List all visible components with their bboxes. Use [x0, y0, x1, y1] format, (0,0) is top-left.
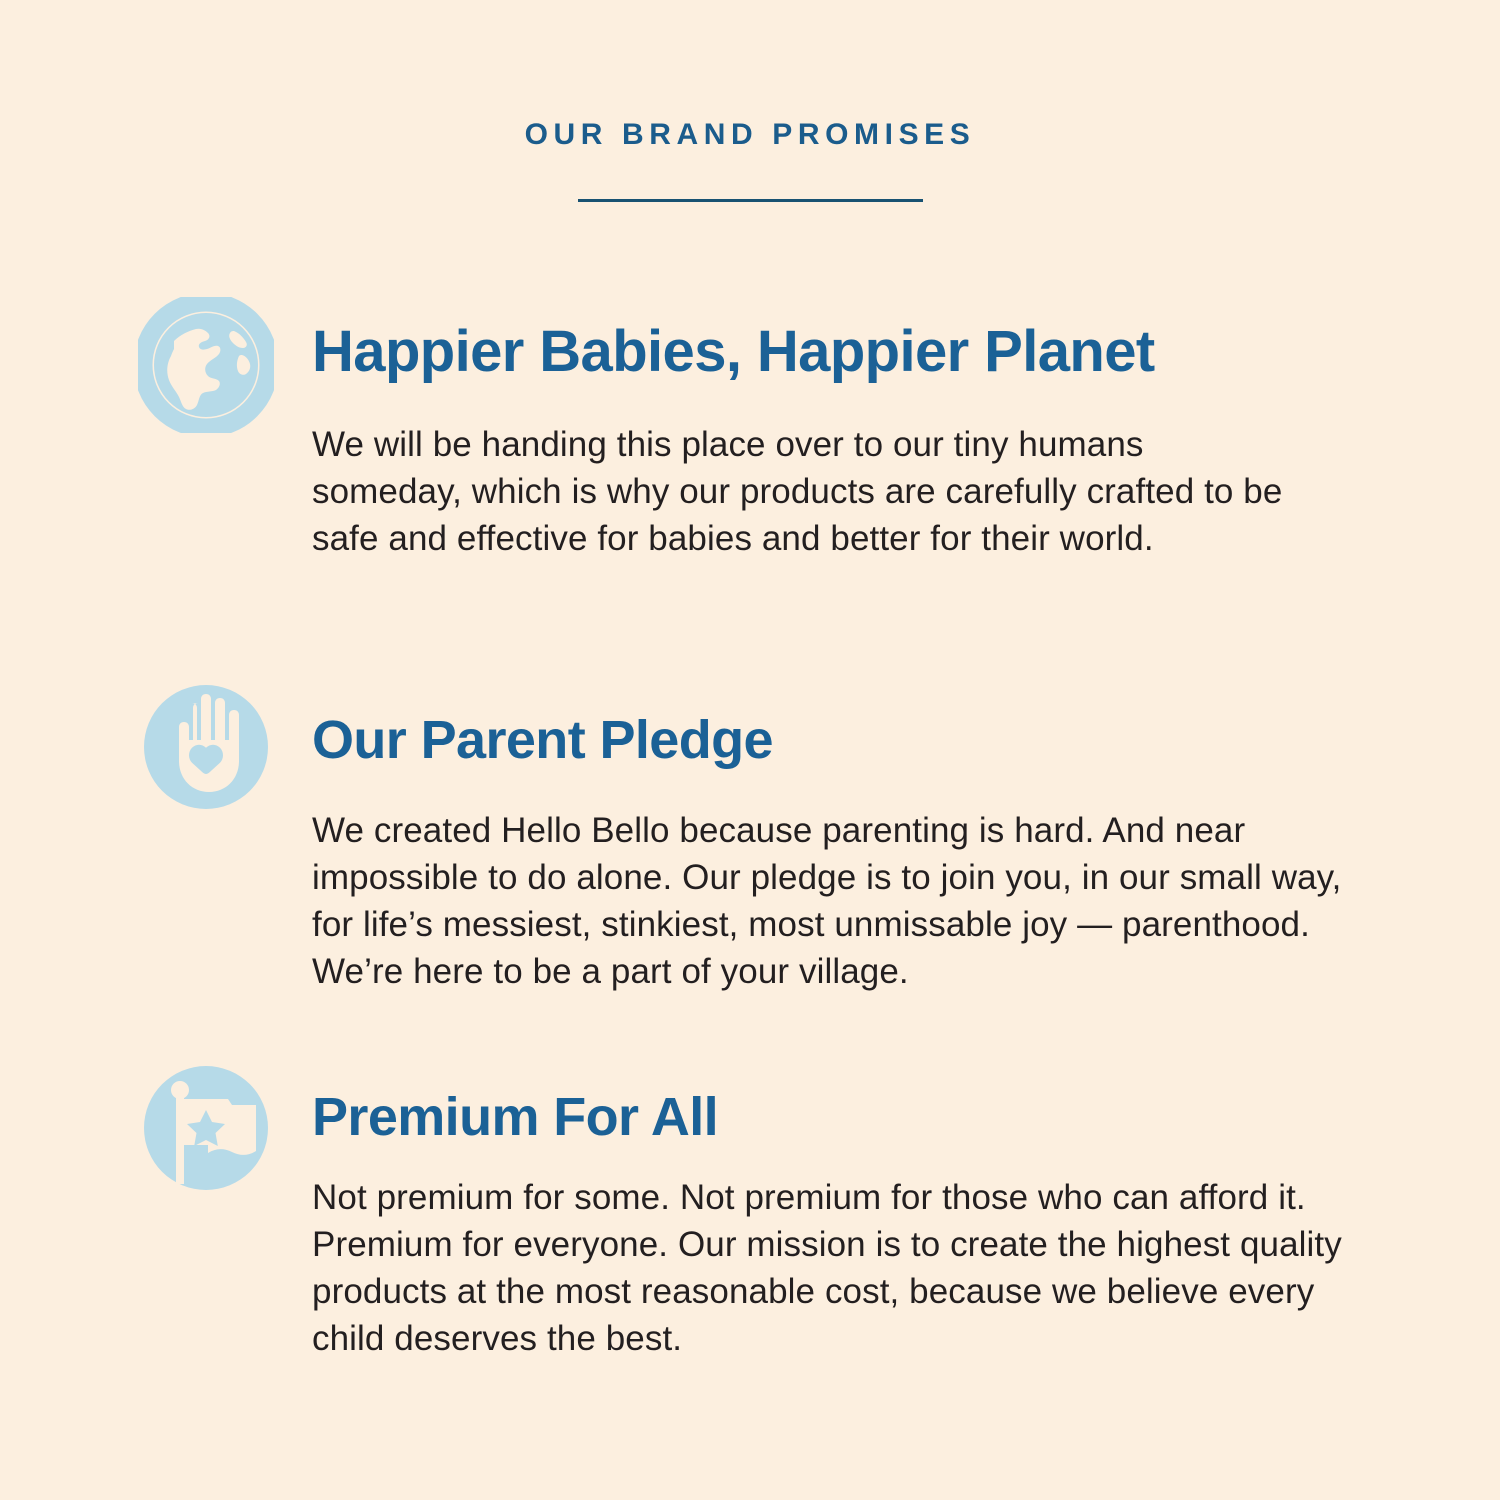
- promise-text: We will be handing this place over to ou…: [312, 421, 1287, 562]
- header-divider: [578, 199, 923, 202]
- promise-text: We created Hello Bello because parenting…: [312, 807, 1387, 995]
- flag-star-icon: [138, 1060, 274, 1196]
- promise-body: Happier Babies, Happier Planet We will b…: [312, 297, 1392, 562]
- promise-body: Premium For All Not premium for some. No…: [312, 1060, 1392, 1362]
- divider-wrap: [0, 199, 1500, 202]
- promise-text: Not premium for some. Not premium for th…: [312, 1174, 1347, 1362]
- promise-title: Premium For All: [312, 1088, 1392, 1146]
- globe-icon: [138, 297, 274, 433]
- page-title: OUR BRAND PROMISES: [0, 118, 1500, 152]
- page-header: OUR BRAND PROMISES: [0, 118, 1500, 202]
- brand-promises-page: OUR BRAND PROMISES Happier Babies, Happi…: [0, 0, 1500, 1500]
- promise-body: Our Parent Pledge We created Hello Bello…: [312, 679, 1392, 995]
- promise-title: Happier Babies, Happier Planet: [312, 321, 1392, 383]
- promise-title: Our Parent Pledge: [312, 711, 1392, 769]
- hand-heart-icon: [138, 679, 274, 815]
